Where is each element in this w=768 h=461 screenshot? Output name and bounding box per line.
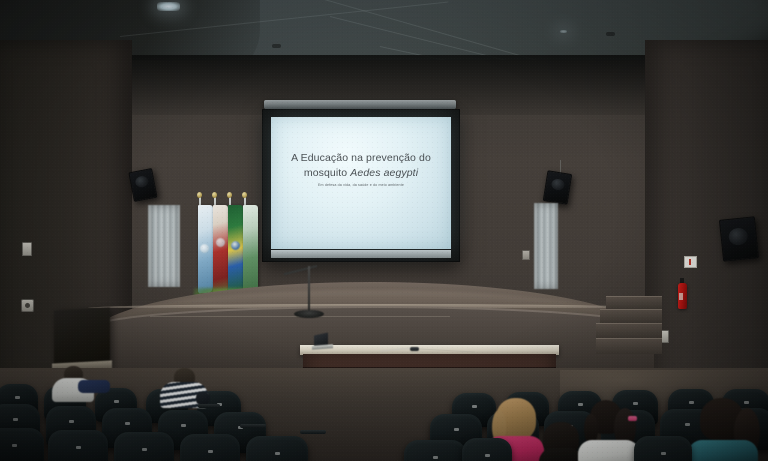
floor-microphone-stand [282, 258, 328, 320]
flag-emblem [231, 241, 240, 250]
flag-finial [197, 192, 202, 198]
screen-roller-casing [264, 100, 456, 109]
curtain-left [148, 205, 180, 287]
flag-emblem [200, 244, 209, 253]
attendee-torso [539, 448, 583, 461]
slide-subtitle: Em defesa da vida, da saúde e do meio am… [282, 183, 440, 188]
table-microphone [380, 347, 420, 354]
microphone-stand-base [294, 310, 324, 318]
auditorium-seat[interactable] [180, 434, 240, 461]
wall-outlet[interactable] [21, 299, 34, 312]
attendee-bag [78, 380, 110, 393]
microphone-neck [380, 347, 414, 352]
stage-step [596, 338, 662, 354]
seat-armrest [240, 424, 266, 428]
auditorium-seat[interactable] [48, 430, 108, 461]
slide-title-prefix: mosquito [304, 167, 350, 179]
microphone-stand-shaft [308, 266, 310, 312]
screen-frame: A Educação na prevenção do mosquito Aede… [262, 109, 460, 262]
stage-step [606, 296, 662, 309]
flag-finial [227, 192, 232, 198]
institution-flag [243, 205, 258, 293]
speaker-cone-icon [728, 227, 749, 246]
laptop-keyboard [312, 344, 333, 349]
curtain-right [534, 203, 558, 289]
microphone-head [410, 347, 419, 351]
auditorium-photo: A Educação na prevenção do mosquito Aede… [0, 0, 768, 461]
speaker-cone-icon [134, 175, 149, 188]
wall-plate-right[interactable] [522, 250, 530, 260]
stage-step [596, 323, 662, 338]
laptop[interactable] [312, 334, 333, 350]
auditorium-seat[interactable] [404, 440, 466, 461]
slide-title-line-1: A Educação na prevenção do [282, 151, 440, 165]
ceiling-vent [606, 32, 615, 36]
flag-finial [212, 192, 217, 198]
auditorium-seat[interactable] [246, 436, 308, 461]
slide-content: A Educação na prevenção do mosquito Aede… [282, 151, 440, 188]
state-flag-santa-catarina [213, 205, 228, 293]
screen-surface: A Educação na prevenção do mosquito Aede… [271, 117, 451, 249]
fire-extinguisher [676, 277, 688, 311]
stage-step [600, 309, 662, 323]
slide-title-species: Aedes aegypti [350, 167, 418, 179]
recessed-ceiling-light [157, 2, 180, 11]
seat-armrest [300, 430, 326, 434]
slide-title-line-2: mosquito Aedes aegypti [282, 166, 440, 180]
attendee-torso [578, 440, 640, 461]
wall-speaker-right [543, 170, 573, 205]
auditorium-seat[interactable] [462, 438, 512, 461]
seat-armrest [198, 404, 220, 408]
auditorium-seat[interactable] [0, 428, 44, 461]
attendee-torso [688, 440, 758, 461]
extinguisher-label [679, 293, 683, 300]
auditorium-seat[interactable] [114, 432, 174, 461]
flag-emblem [216, 238, 225, 247]
fire-extinguisher-sign [684, 256, 697, 268]
hair-clip [628, 416, 637, 421]
recessed-ceiling-light [560, 30, 567, 33]
screen-bottom-bar [271, 250, 451, 258]
projection-screen: A Educação na prevenção do mosquito Aede… [262, 100, 458, 260]
wall-speaker-far-right [719, 216, 759, 262]
microphone-boom-arm [284, 265, 317, 275]
stage-steps[interactable] [596, 296, 662, 376]
light-switch-plate[interactable] [22, 242, 32, 256]
speaker-cone-icon [551, 178, 566, 191]
flag-finial [242, 192, 247, 198]
auditorium-seat[interactable] [634, 436, 692, 461]
ceiling-vent [272, 44, 281, 48]
